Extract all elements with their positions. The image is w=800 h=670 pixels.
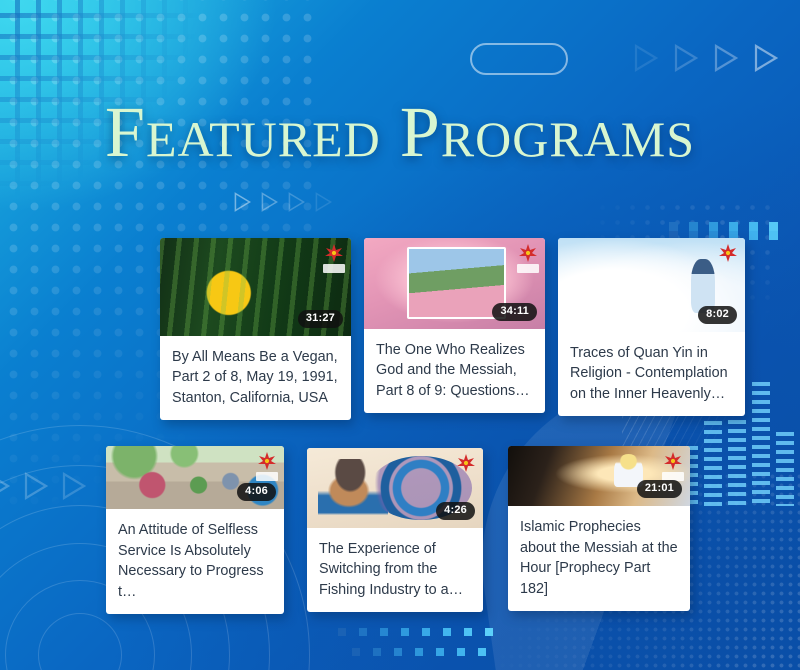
duration-badge: 21:01 xyxy=(637,480,682,498)
program-title: The One Who Realizes God and the Messiah… xyxy=(364,329,545,413)
play-triangle-icon xyxy=(62,472,86,500)
subtitle-tag-icon xyxy=(256,472,278,481)
program-title: The Experience of Switching from the Fis… xyxy=(307,528,483,612)
duration-badge: 31:27 xyxy=(298,310,343,328)
play-triangle-icon xyxy=(24,472,48,500)
play-triangle-icon xyxy=(315,192,332,212)
play-triangle-icon xyxy=(754,44,778,72)
program-thumbnail[interactable]: 4:26 xyxy=(307,448,483,528)
program-thumbnail[interactable]: 4:06 xyxy=(106,446,284,509)
subtitle-tag-icon xyxy=(517,264,539,273)
duration-badge: 8:02 xyxy=(698,306,737,324)
play-triangle-row-left xyxy=(0,472,86,500)
play-triangle-icon xyxy=(0,472,10,500)
featured-programs-banner: Featured Programs 31:27 By All Means Be … xyxy=(0,0,800,670)
program-title: By All Means Be a Vegan, Part 2 of 8, Ma… xyxy=(160,336,351,420)
program-title: Islamic Prophecies about the Messiah at … xyxy=(508,506,690,611)
duration-badge: 34:11 xyxy=(492,303,537,321)
play-triangle-icon xyxy=(714,44,738,72)
dot-row-bottom-1 xyxy=(338,628,493,636)
program-card[interactable]: 4:26 The Experience of Switching from th… xyxy=(307,448,483,612)
play-triangle-row-middle xyxy=(234,192,332,212)
program-thumbnail[interactable]: 31:27 xyxy=(160,238,351,336)
play-triangle-icon xyxy=(634,44,658,72)
program-thumbnail[interactable]: 34:11 xyxy=(364,238,545,329)
play-triangle-row-top xyxy=(634,44,778,72)
supreme-master-logo-icon xyxy=(517,243,539,263)
play-triangle-icon xyxy=(261,192,278,212)
duration-badge: 4:26 xyxy=(436,502,475,520)
supreme-master-logo-icon xyxy=(323,243,345,263)
subtitle-tag-icon xyxy=(323,264,345,273)
program-card[interactable]: 8:02 Traces of Quan Yin in Religion - Co… xyxy=(558,238,745,416)
duration-badge: 4:06 xyxy=(237,483,276,501)
play-triangle-icon xyxy=(674,44,698,72)
pill-outline-icon xyxy=(470,43,568,75)
program-thumbnail[interactable]: 8:02 xyxy=(558,238,745,332)
program-card[interactable]: 4:06 An Attitude of Selfless Service Is … xyxy=(106,446,284,614)
dot-row-bottom-2 xyxy=(352,648,486,656)
program-thumbnail[interactable]: 21:01 xyxy=(508,446,690,506)
supreme-master-logo-icon xyxy=(717,243,739,263)
play-triangle-icon xyxy=(288,192,305,212)
supreme-master-logo-icon xyxy=(455,453,477,473)
supreme-master-logo-icon xyxy=(256,451,278,471)
program-title: An Attitude of Selfless Service Is Absol… xyxy=(106,509,284,614)
program-card[interactable]: 34:11 The One Who Realizes God and the M… xyxy=(364,238,545,413)
page-title: Featured Programs xyxy=(0,96,800,168)
program-title: Traces of Quan Yin in Religion - Contemp… xyxy=(558,332,745,416)
program-card[interactable]: 21:01 Islamic Prophecies about the Messi… xyxy=(508,446,690,611)
supreme-master-logo-icon xyxy=(662,451,684,471)
program-card[interactable]: 31:27 By All Means Be a Vegan, Part 2 of… xyxy=(160,238,351,420)
play-triangle-icon xyxy=(234,192,251,212)
